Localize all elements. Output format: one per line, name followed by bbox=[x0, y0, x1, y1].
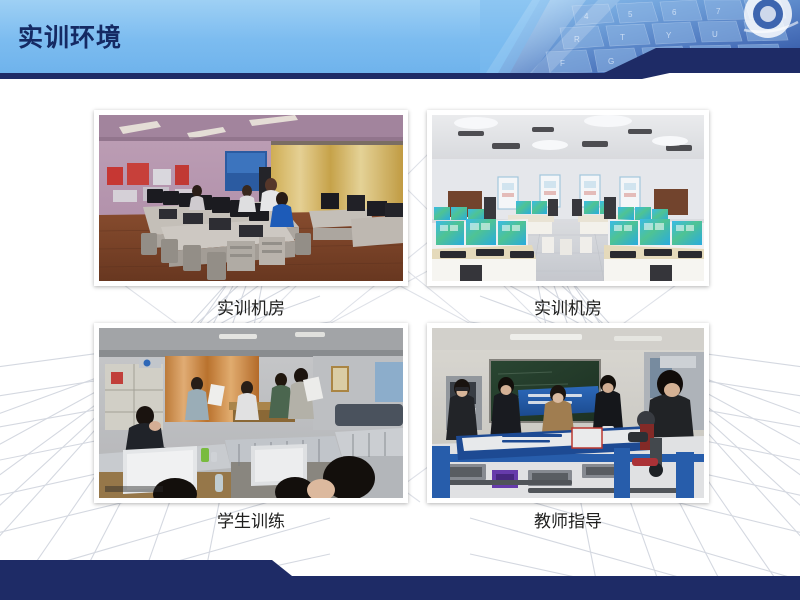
photo-training-room bbox=[99, 328, 403, 498]
svg-text:G: G bbox=[608, 57, 614, 66]
gallery-item-3[interactable] bbox=[94, 323, 408, 503]
photo-frame-4 bbox=[427, 323, 709, 503]
gallery-item-1[interactable] bbox=[94, 110, 408, 286]
gallery-item-4[interactable] bbox=[427, 323, 709, 503]
svg-text:T: T bbox=[620, 33, 625, 42]
svg-text:U: U bbox=[712, 30, 718, 39]
photo-lab-pink bbox=[99, 115, 403, 281]
slide-header: 45 67 RT YU FG HJ bbox=[0, 0, 800, 73]
footer-navy-band bbox=[0, 552, 800, 600]
gallery-item-2[interactable] bbox=[427, 110, 709, 286]
photo-caption-1: 实训机房 bbox=[94, 300, 408, 317]
photo-frame-3 bbox=[94, 323, 408, 503]
photo-gallery bbox=[0, 95, 800, 555]
photo-frame-1 bbox=[94, 110, 408, 286]
svg-text:Y: Y bbox=[666, 31, 672, 40]
photo-caption-2: 实训机房 bbox=[427, 300, 709, 317]
photo-caption-4: 教师指导 bbox=[427, 513, 709, 530]
svg-text:5: 5 bbox=[628, 10, 633, 19]
photo-classroom-equipment bbox=[432, 328, 704, 498]
page-title: 实训环境 bbox=[18, 26, 122, 51]
slide-root: 45 67 RT YU FG HJ bbox=[0, 0, 800, 600]
svg-text:7: 7 bbox=[716, 7, 721, 16]
photo-caption-3: 学生训练 bbox=[94, 513, 408, 530]
photo-lab-white bbox=[432, 115, 704, 281]
keyboard-tech-graphic-icon: 45 67 RT YU FG HJ bbox=[480, 0, 800, 73]
svg-text:6: 6 bbox=[672, 8, 677, 17]
photo-frame-2 bbox=[427, 110, 709, 286]
